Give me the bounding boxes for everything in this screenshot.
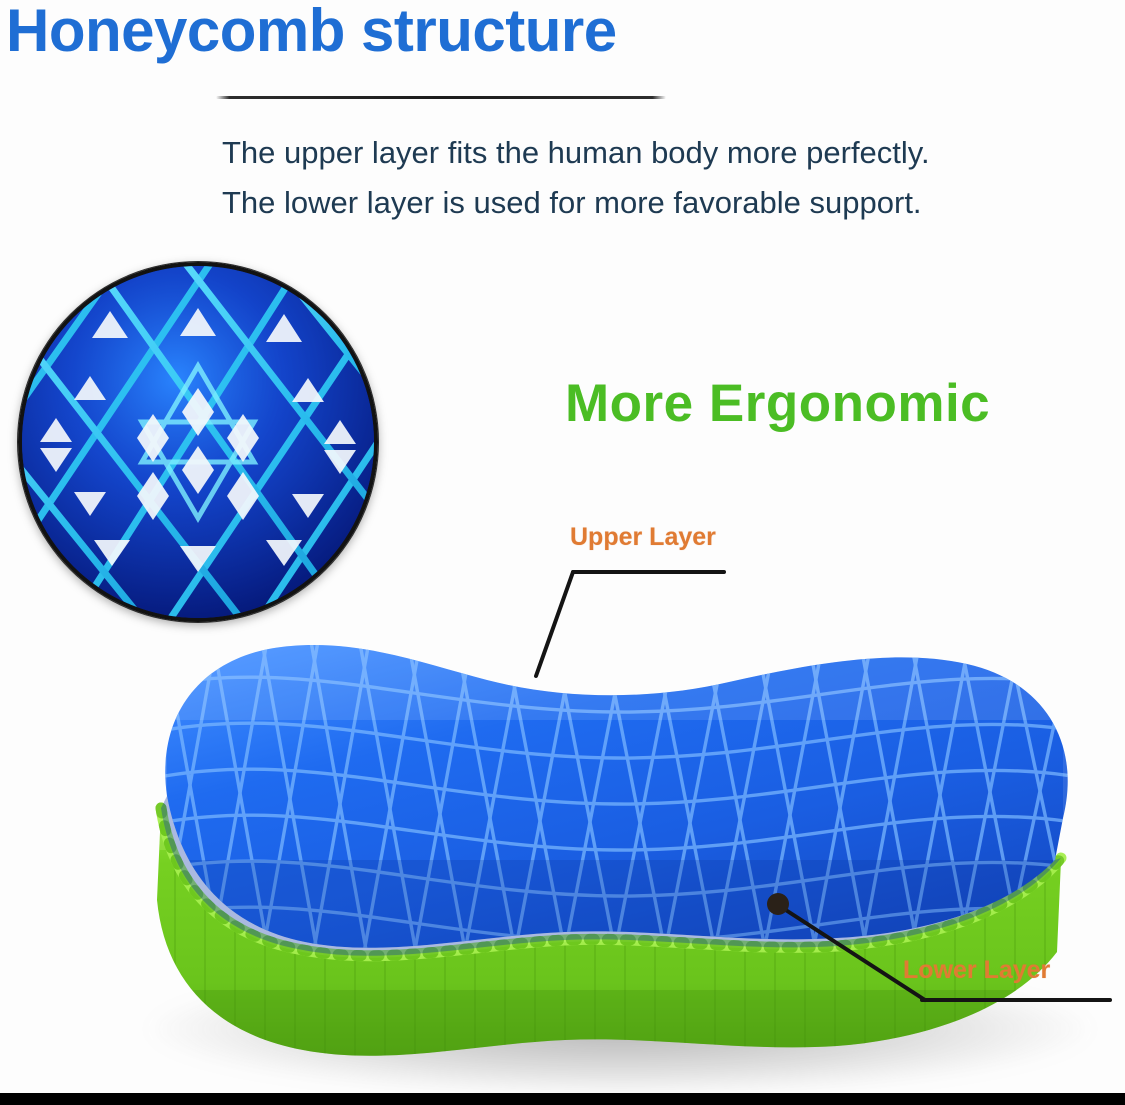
subtitle-line-1: The upper layer fits the human body more… xyxy=(222,128,1112,178)
page-title: Honeycomb structure xyxy=(6,0,617,65)
bottom-bar xyxy=(0,1093,1125,1105)
title-divider xyxy=(216,96,666,99)
gel-cushion-illustration xyxy=(95,560,1125,1080)
subtitle-block: The upper layer fits the human body more… xyxy=(222,128,1112,228)
upper-layer-label: Upper Layer xyxy=(570,523,716,552)
subtitle-line-2: The lower layer is used for more favorab… xyxy=(222,178,1112,228)
product-infographic: Honeycomb structure The upper layer fits… xyxy=(0,0,1125,1105)
lower-layer-label: Lower Layer xyxy=(903,956,1050,985)
more-ergonomic-headline: More Ergonomic xyxy=(565,373,990,434)
